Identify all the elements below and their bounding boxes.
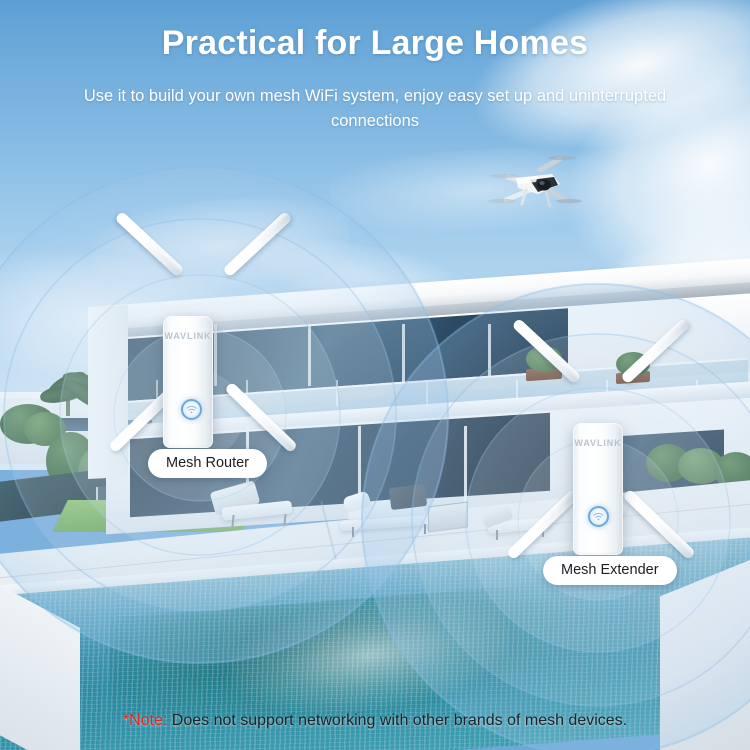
quadcopter-drone <box>478 152 588 218</box>
footnote-text: Does not support networking with other b… <box>167 712 627 729</box>
wifi-icon <box>186 405 197 414</box>
wifi-led-indicator[interactable] <box>588 506 609 527</box>
rail-post <box>426 380 428 406</box>
footnote-marker: *Note: <box>123 712 167 729</box>
door-frame <box>464 426 467 504</box>
window-mullion <box>214 324 217 386</box>
page-subtitle: Use it to build your own mesh WiFi syste… <box>75 84 675 134</box>
footnote: *Note: Does not support networking with … <box>0 712 750 730</box>
wavlink-logo: WAVLINK <box>163 331 213 341</box>
wavlink-logo: WAVLINK <box>573 438 623 448</box>
mesh-extender-label: Mesh Extender <box>543 556 677 585</box>
wifi-icon <box>593 512 604 521</box>
product-feature-banner: WAVLINK Mesh Router WAVLINK Mesh Extende <box>0 0 750 750</box>
page-title: Practical for Large Homes <box>0 24 750 63</box>
mesh-router-label: Mesh Router <box>148 449 267 478</box>
window-mullion <box>402 324 405 386</box>
window-mullion <box>308 324 311 386</box>
entrance-column <box>88 305 128 479</box>
side-table <box>428 502 468 533</box>
wifi-led-indicator[interactable] <box>181 399 202 420</box>
rail-post <box>336 380 338 406</box>
